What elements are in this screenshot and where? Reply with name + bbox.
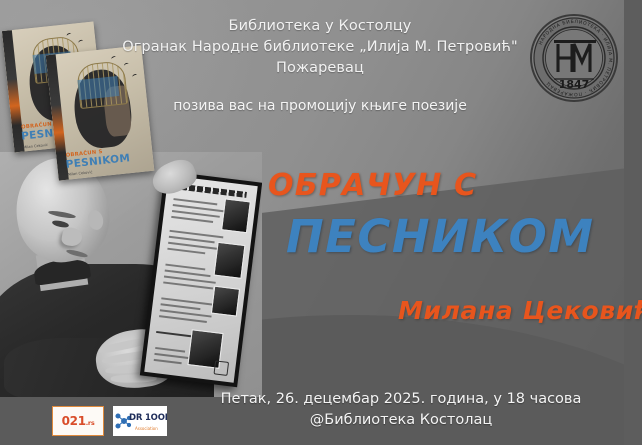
sponsor-logo-row: 021.rs DR 1OOIC Association: [52, 406, 167, 436]
sponsor-dr-subtext: Association: [135, 426, 158, 431]
poem-inset-photo: [211, 286, 240, 317]
poem-signature-line: [156, 331, 192, 337]
sponsor-logo-dr[interactable]: DR 1OOIC Association: [113, 406, 167, 436]
footer-venue: @Библиотека Костолац: [180, 410, 622, 431]
poem-text-line: [154, 359, 182, 364]
event-poster: OBRAČUN S PESNIKOM Milan Ceković OBRAČUN…: [0, 0, 642, 445]
poster-author-name: Милана Цековића: [398, 296, 642, 325]
sponsor-logo-021[interactable]: 021.rs: [52, 406, 104, 436]
header-text-block: Библиотека у Костолцу Огранак Народне би…: [120, 16, 520, 116]
framed-poem-sheet: [144, 175, 257, 382]
book-blue-block: [77, 76, 119, 100]
poem-text-line: [155, 347, 185, 353]
background-right-band: [624, 0, 642, 445]
svg-text:1847: 1847: [559, 78, 590, 91]
sponsor-021-text: 021.rs: [62, 414, 95, 428]
footer-text-block: Петак, 26. децембар 2025. година, у 18 ч…: [180, 389, 622, 431]
header-line-3: Пожаревац: [120, 58, 520, 79]
poem-text-line: [154, 353, 188, 359]
footer-datetime: Петак, 26. децембар 2025. година, у 18 ч…: [180, 389, 622, 410]
poster-title-line-2: ПЕСНИКОМ: [286, 210, 595, 263]
poem-inset-photo: [214, 242, 246, 279]
author-photograph: [0, 152, 262, 397]
poem-text-line: [167, 248, 205, 255]
header-invitation-line: позива вас на промоцију књиге поезије: [120, 96, 520, 116]
poster-title-line-1: ОБРАЧУН С: [268, 168, 477, 203]
header-line-2: Огранак Народне библиотеке „Илија М. Пет…: [120, 37, 520, 58]
poem-inset-photo: [221, 198, 251, 233]
header-line-1: Библиотека у Костолцу: [120, 16, 520, 37]
library-seal-icon: НАРОДНА БИБЛИОТЕКА · ИЛИЈА М. ПЕТРОВИЋ ·…: [528, 12, 620, 104]
poem-text-line: [159, 315, 207, 323]
poem-stamp-icon: [213, 360, 229, 376]
poem-text-line: [171, 216, 213, 223]
sponsor-dr-text: DR 1OOIC: [129, 413, 167, 423]
